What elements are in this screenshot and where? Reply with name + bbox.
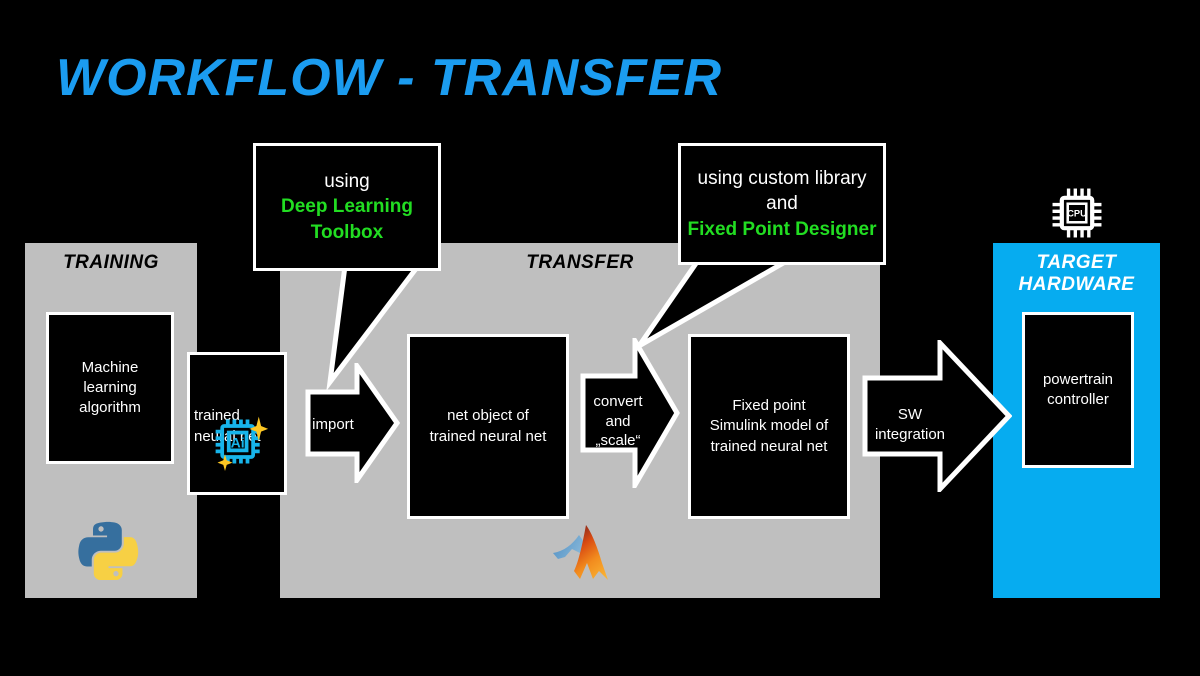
page-title: WORKFLOW - TRANSFER (56, 48, 722, 108)
callout-fpd-line-3: Fixed Point Designer (688, 217, 877, 242)
svg-text:CPU: CPU (1067, 208, 1087, 218)
callout-deep-learning-tail (290, 262, 460, 402)
svg-text:Ai: Ai (231, 435, 245, 451)
powertrain-line-2: controller (1047, 390, 1109, 410)
callout-dl-line-2: Deep Learning (281, 194, 413, 219)
arrow-convert (580, 338, 680, 488)
fixed-point-line-3: trained neural net (711, 437, 828, 457)
net-object-line-1: net object of (447, 406, 529, 426)
callout-fpd-line-1: using custom library (698, 166, 867, 191)
ai-chip-icon: Ai (210, 405, 270, 477)
panel-target-hardware-label-line1: TARGET (993, 252, 1160, 274)
box-powertrain-controller: powertrain controller (1022, 312, 1134, 468)
ml-line-1: Machine (82, 358, 139, 378)
callout-fpd-line-2: and (766, 191, 798, 216)
fixed-point-line-1: Fixed point (732, 396, 805, 416)
ml-line-2: learning (83, 378, 136, 398)
box-machine-learning-algorithm: Machine learning algorithm (46, 312, 174, 464)
matlab-logo (552, 523, 622, 581)
arrow-sw-integration (862, 340, 1012, 492)
callout-dl-line-3: Toolbox (311, 220, 383, 245)
net-object-line-2: trained neural net (430, 427, 547, 447)
panel-target-hardware-label-line2: HARDWARE (993, 274, 1160, 296)
cpu-chip-icon: CPU (1050, 186, 1104, 240)
callout-deep-learning-toolbox: using Deep Learning Toolbox (253, 143, 441, 271)
box-fixed-point-simulink-model: Fixed point Simulink model of trained ne… (688, 334, 850, 519)
callout-fixed-point-designer-tail (625, 258, 815, 358)
python-logo (78, 518, 140, 580)
fixed-point-line-2: Simulink model of (710, 416, 828, 436)
ml-line-3: algorithm (79, 398, 141, 418)
panel-training-label: TRAINING (25, 252, 197, 274)
powertrain-line-1: powertrain (1043, 370, 1113, 390)
callout-fixed-point-designer: using custom library and Fixed Point Des… (678, 143, 886, 265)
callout-dl-line-1: using (324, 169, 369, 194)
slide-canvas: WORKFLOW - TRANSFER TRAINING TRANSFER TA… (0, 0, 1200, 676)
